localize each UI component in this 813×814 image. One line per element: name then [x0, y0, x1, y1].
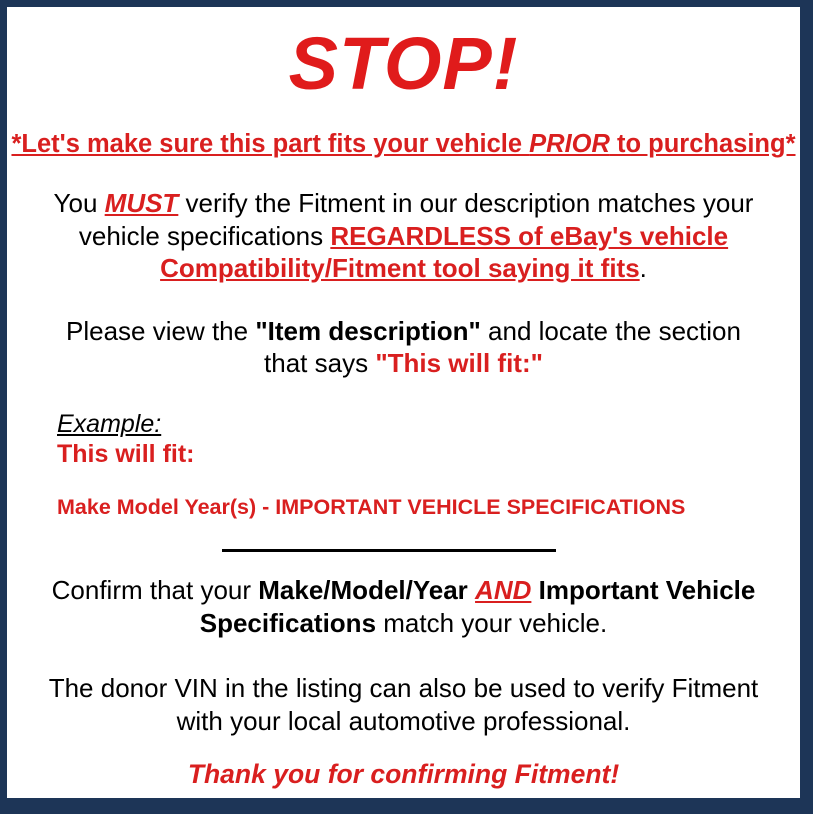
subtitle-prefix: *Let's make sure this part fits your veh…	[11, 130, 529, 158]
example-this-will-fit-line: This will fit:	[57, 439, 800, 469]
item-desc-part-1: Please view the	[66, 316, 255, 346]
this-will-fit-emphasis: "This will fit:"	[375, 348, 543, 378]
subtitle-emphasis-prior: PRIOR	[529, 130, 610, 158]
section-divider	[222, 549, 556, 552]
confirm-part-4: match your vehicle.	[376, 608, 607, 638]
must-part-1: You	[54, 188, 105, 218]
stop-heading: STOP!	[7, 25, 800, 103]
confirm-part-3	[531, 575, 538, 605]
subtitle-line: *Let's make sure this part fits your veh…	[7, 130, 800, 159]
example-specification-line: Make Model Year(s) - IMPORTANT VEHICLE S…	[57, 495, 800, 521]
and-emphasis: AND	[475, 575, 531, 605]
make-model-year-emphasis: Make/Model/Year	[258, 575, 468, 605]
item-description-emphasis: "Item description"	[255, 316, 480, 346]
fitment-notice-card: STOP! *Let's make sure this part fits yo…	[0, 0, 813, 814]
donor-vin-paragraph: The donor VIN in the listing can also be…	[41, 672, 766, 737]
divider-wrap	[7, 546, 800, 556]
subtitle-suffix: to purchasing*	[610, 130, 796, 158]
confirm-part-2	[468, 575, 475, 605]
example-block: Example: This will fit: Make Model Year(…	[7, 410, 800, 522]
must-emphasis: MUST	[105, 188, 179, 218]
confirm-part-1: Confirm that your	[52, 575, 259, 605]
thank-you-line: Thank you for confirming Fitment!	[7, 759, 800, 791]
notice-inner-panel: STOP! *Let's make sure this part fits yo…	[7, 7, 800, 798]
must-part-3: .	[640, 253, 647, 283]
example-label: Example:	[57, 410, 800, 439]
must-verify-paragraph: You MUST verify the Fitment in our descr…	[41, 187, 766, 285]
confirm-paragraph: Confirm that your Make/Model/Year AND Im…	[41, 574, 766, 639]
item-description-paragraph: Please view the "Item description" and l…	[41, 315, 766, 380]
